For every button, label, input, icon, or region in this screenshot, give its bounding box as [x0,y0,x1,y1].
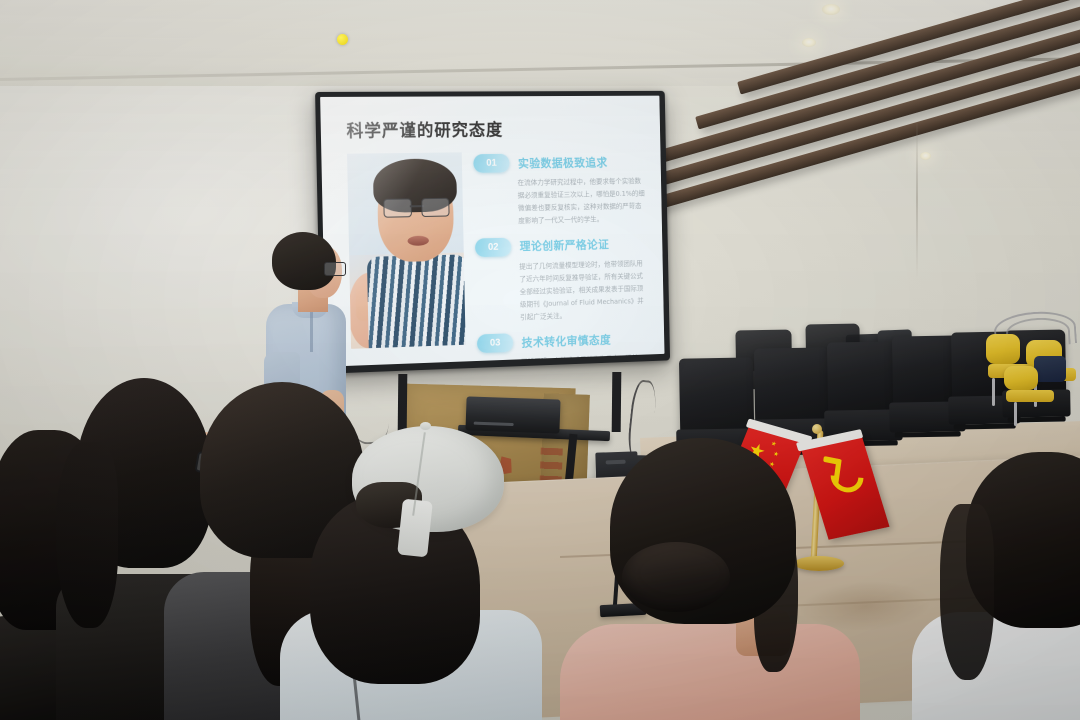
tv-screen: 科学严谨的研究态度 [320,96,664,367]
point-number-badge: 03 [477,334,513,354]
striped-shirt [367,254,466,348]
point-heading: 实验数据极致追求 [518,154,608,171]
audience-member [946,452,1080,720]
point-heading: 理论创新严格论证 [520,237,610,255]
slide-portrait-image [347,152,466,348]
glasses-icon [383,198,449,216]
slide-point: 01 实验数据极致追求 在流体力学研究过程中，他要求每个实验数据必须重复验证三次… [473,152,647,228]
ceiling-downlight [802,38,816,47]
audience-torso [912,612,1080,720]
slide-body: 01 实验数据极致追求 在流体力学研究过程中，他要求每个实验数据必须重复验证三次… [347,150,651,366]
stacked-yellow-chair [1004,366,1058,424]
audience-torso [560,624,860,720]
flag-pole-knob [812,424,822,434]
slide-title: 科学严谨的研究态度 [346,115,645,142]
point-heading: 技术转化审慎态度 [522,332,612,351]
point-number-badge: 01 [473,154,509,173]
slide-point: 03 技术转化审慎态度 不骄不躁，在技术成果转化为重大工程前，坚持先完成全部基础… [477,329,651,367]
audience-hair [940,504,994,680]
slide-points-list: 01 实验数据极致追求 在流体力学研究过程中，他要求每个实验数据必须重复验证三次… [473,150,651,366]
presenter-hair [272,232,336,290]
point-number-badge: 02 [475,237,511,256]
point-body-text: 在流体力学研究过程中，他要求每个实验数据必须重复验证三次以上，哪怕是0.1%的细… [517,175,647,227]
tv-corner-sticker [337,34,348,45]
audience-member [300,420,530,720]
tv-bezel: 科学严谨的研究态度 [315,91,670,374]
cap-button [420,422,431,430]
slide-content: 科学严谨的研究态度 [320,96,664,367]
audience-member [586,438,846,720]
wall-seam [916,118,918,278]
glasses-icon [324,262,346,276]
tv-stand-post [612,372,622,432]
photo-scene: 科学严谨的研究态度 [0,0,1080,720]
ceiling-downlight [822,4,840,15]
slide-point: 02 理论创新严格论证 提出了几何流量模型理论时，他带领团队用了近六年时间反复推… [475,234,649,325]
presentation-tv[interactable]: 科学严谨的研究态度 [315,91,670,374]
audience-hair-bun [622,542,730,612]
point-body-text: 提出了几何流量模型理论时，他带领团队用了近六年时间反复推导验证，所有关键公式全部… [519,257,649,323]
audience-hair [56,442,118,628]
